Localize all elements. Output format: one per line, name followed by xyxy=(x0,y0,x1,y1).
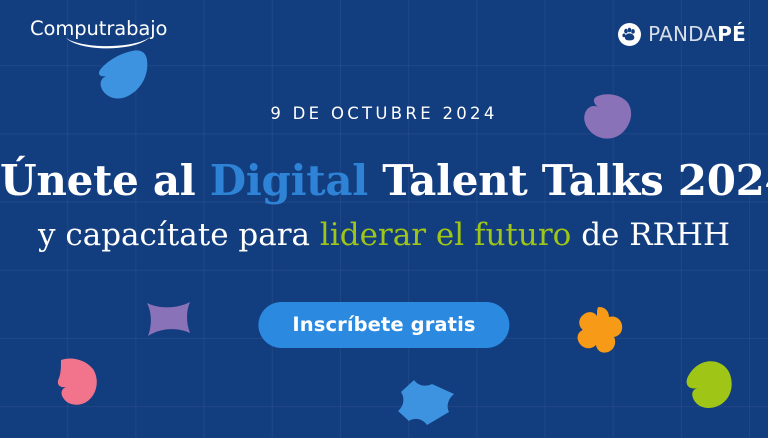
pink-leaf-bottom-left-icon xyxy=(54,356,100,408)
page-subtitle: y capacítate para liderar el futuro de R… xyxy=(0,215,768,255)
pandape-wordmark: PANDAPÉ xyxy=(648,23,746,45)
blue-ribbon-bottom-center-icon xyxy=(396,378,458,428)
pandape-wordmark-part2: PÉ xyxy=(717,22,746,46)
headline-accent: Digital xyxy=(210,156,368,205)
headline-part2: Talent Talks 2024 xyxy=(368,156,768,205)
subheadline-part2: de RRHH xyxy=(571,217,730,253)
computrabajo-logo[interactable]: Computrabajo xyxy=(30,18,160,54)
subheadline-part1: y capacítate para xyxy=(38,217,320,253)
paw-print-icon xyxy=(618,23,641,46)
page-title: Únete al Digital Talent Talks 2024 xyxy=(0,157,768,205)
computrabajo-swoosh-icon xyxy=(64,36,152,50)
orange-clover-right-icon xyxy=(572,305,626,359)
green-leaf-bottom-right-icon xyxy=(683,360,735,410)
pandape-wordmark-part1: PANDA xyxy=(648,22,717,46)
promo-banner: Computrabajo PANDAPÉ 9 DE OCTUBRE 2024 Ú… xyxy=(0,0,768,438)
purple-ribbon-left-icon xyxy=(143,299,195,343)
blue-droplet-top-left-icon xyxy=(92,48,152,100)
register-button[interactable]: Inscríbete gratis xyxy=(258,302,509,348)
event-date: 9 DE OCTUBRE 2024 xyxy=(0,104,768,123)
headline-part1: Únete al xyxy=(0,156,210,205)
pandape-logo[interactable]: PANDAPÉ xyxy=(618,20,746,48)
subheadline-accent: liderar el futuro xyxy=(320,217,571,253)
